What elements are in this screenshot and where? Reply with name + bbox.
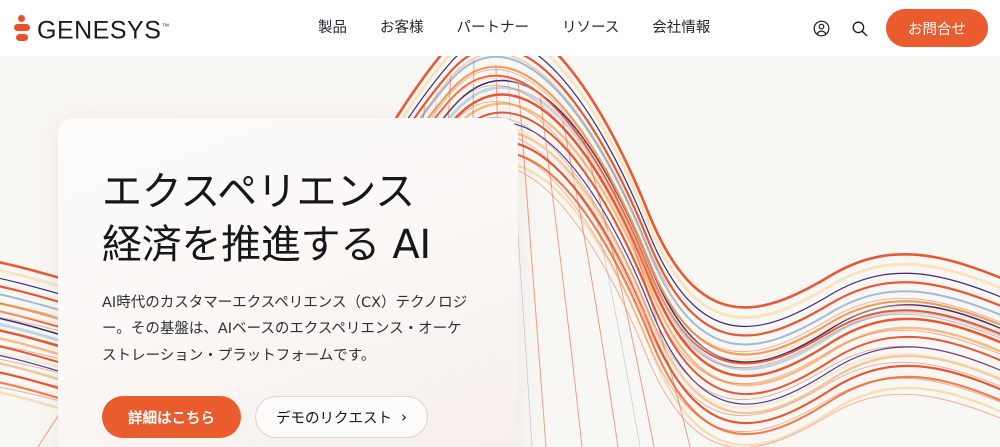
genesys-logo-mark-icon — [14, 14, 30, 44]
trademark-symbol: ™ — [161, 22, 170, 31]
contact-us-button[interactable]: お問合せ — [886, 9, 988, 47]
nav-item-resources[interactable]: リソース — [562, 0, 619, 56]
brand-name: GENESYS™ — [37, 12, 170, 45]
header-actions: お問合せ — [810, 0, 988, 56]
main-navigation: 製品 お客様 パートナー リソース 会社情報 — [318, 0, 710, 56]
nav-item-customers[interactable]: お客様 — [380, 0, 424, 56]
request-demo-button[interactable]: デモのリクエスト › — [255, 396, 428, 438]
request-demo-label: デモのリクエスト — [276, 407, 392, 428]
hero-content-card: エクスペリエンス 経済を推進する AI AI時代のカスタマーエクスペリエンス（C… — [58, 118, 518, 447]
chevron-right-icon: › — [401, 410, 407, 425]
hero-actions: 詳細はこちら デモのリクエスト › — [102, 396, 474, 438]
nav-item-products[interactable]: 製品 — [318, 0, 347, 56]
hero-title: エクスペリエンス 経済を推進する AI — [102, 166, 474, 272]
hero-section: エクスペリエンス 経済を推進する AI AI時代のカスタマーエクスペリエンス（C… — [0, 56, 1000, 447]
page-root: GENESYS™ 製品 お客様 パートナー リソース 会社情報 — [0, 0, 1000, 447]
learn-more-button[interactable]: 詳細はこちら — [102, 396, 241, 438]
genesys-logo[interactable]: GENESYS™ — [14, 12, 170, 45]
nav-item-partners[interactable]: パートナー — [457, 0, 530, 56]
hero-subtitle: AI時代のカスタマーエクスペリエンス（CX）テクノロジー。その基盤は、AIベース… — [102, 290, 474, 370]
search-icon[interactable] — [848, 17, 870, 39]
nav-item-company[interactable]: 会社情報 — [652, 0, 710, 56]
site-header: GENESYS™ 製品 お客様 パートナー リソース 会社情報 — [0, 0, 1000, 56]
account-circle-icon[interactable] — [810, 17, 832, 39]
